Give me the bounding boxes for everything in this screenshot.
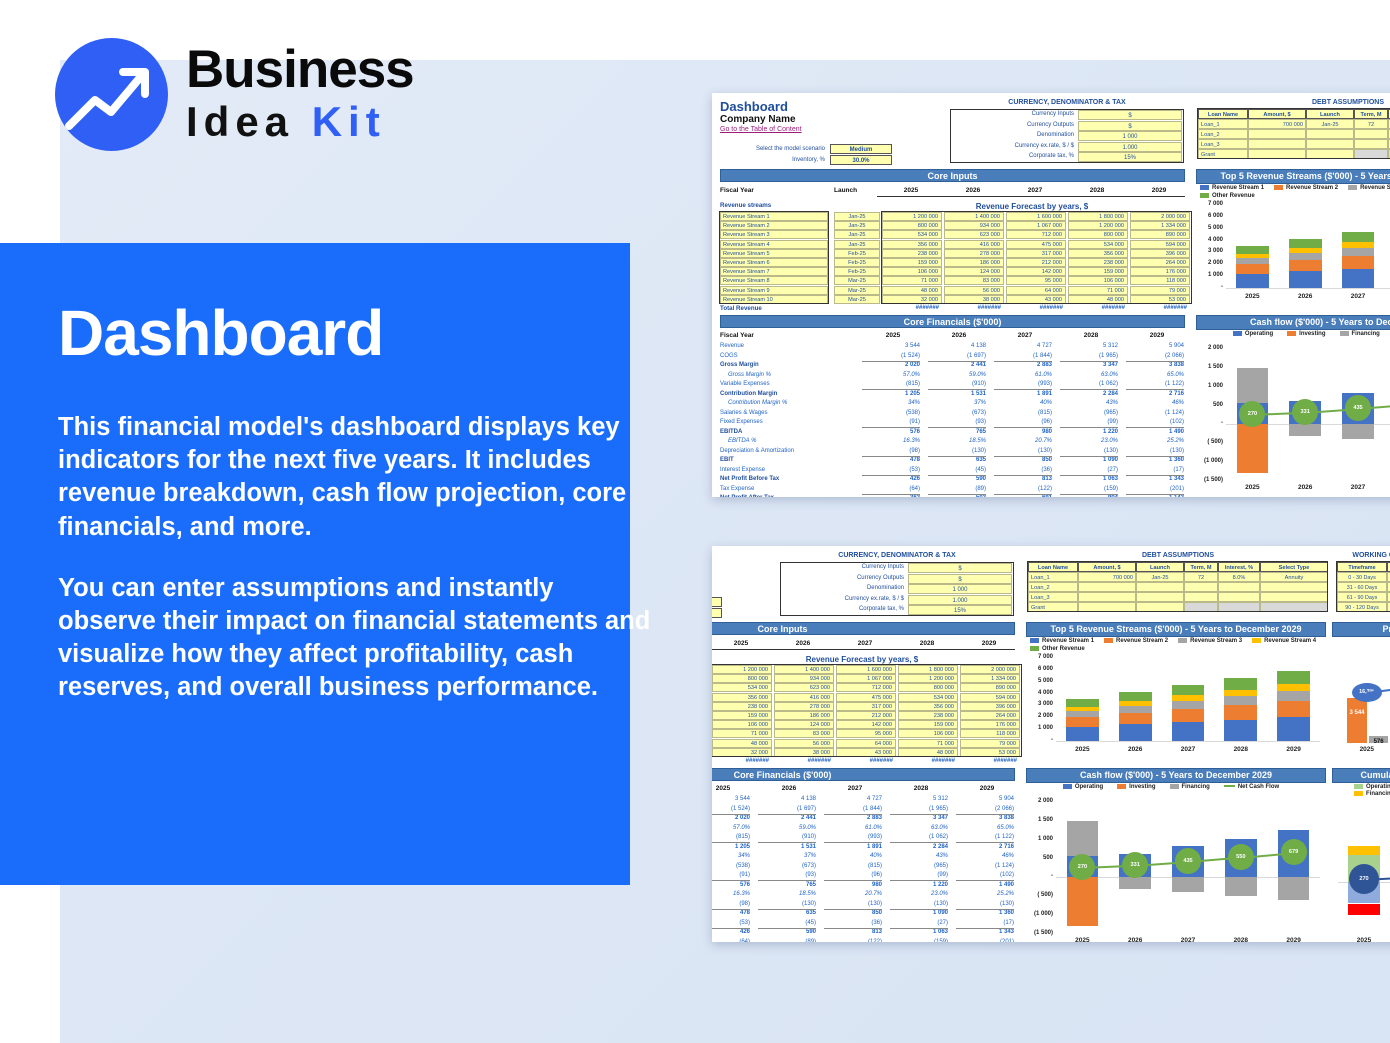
cf-row-value: 63.0% <box>890 825 948 831</box>
cf-row-value: 1 531 <box>758 844 816 850</box>
core-inputs-year: 2026 <box>944 187 1002 194</box>
cf-row-value: 1 220 <box>1060 429 1118 435</box>
legend-label: Operating <box>1245 331 1273 337</box>
cf-row-value: 1 891 <box>824 844 882 850</box>
cf-row-value: (1 697) <box>758 806 816 812</box>
scenario-select[interactable]: Medium <box>830 144 892 154</box>
total-revenue-value: ####### <box>1068 305 1128 311</box>
dashboard-screenshot-bottom: DashboardCompany NameGo to the Table of … <box>712 546 1390 942</box>
revenue-stream-launch[interactable]: Jan-25 <box>834 230 880 239</box>
cf-rule <box>862 494 920 495</box>
cf-row-value: 850 <box>824 910 882 916</box>
chart-title: Cumulative CashFlow ($'000) - 5 Years to… <box>1332 768 1390 783</box>
legend-item: Investing <box>1287 331 1325 337</box>
cf-row-label: EBITDA <box>720 429 860 435</box>
bar-segment <box>1342 424 1374 439</box>
spreadsheet-canvas-top: DashboardCompany NameGo to the Table of … <box>712 93 1390 497</box>
cf-row-value: 635 <box>928 457 986 463</box>
cf-row-value: 43% <box>890 853 948 859</box>
cf-row-value: (64) <box>862 486 920 492</box>
cashflow-data-bubble: 435 <box>1175 848 1201 874</box>
revenue-forecast-title: Revenue Forecast by years, $ <box>872 202 1192 211</box>
y-axis-tick: (1 500) <box>1026 930 1053 936</box>
legend-label: Other Revenue <box>1042 646 1085 652</box>
cf-row-value: (130) <box>928 448 986 454</box>
revenue-stream-launch[interactable]: Jan-25 <box>834 221 880 230</box>
chart-title: Cash flow ($'000) - 5 Years to December … <box>1196 315 1390 330</box>
x-axis-category: 2025 <box>1344 937 1384 942</box>
cf-rule <box>862 389 920 390</box>
cashflow-data-bubble: 435 <box>1345 395 1371 421</box>
chart-cumulative-cashflow: Cumulative CashFlow ($'000) - 5 Years to… <box>1332 768 1390 942</box>
cf-row-value: 34% <box>712 853 750 859</box>
bar-segment <box>1172 685 1205 695</box>
legend-item: Operating <box>1063 784 1103 790</box>
bar-segment <box>1289 424 1321 435</box>
cf-row-value: 576 <box>712 882 750 888</box>
bar-segment <box>1342 242 1375 248</box>
y-axis-tick: 2 000 <box>1026 713 1053 719</box>
x-axis-category: 2028 <box>1221 746 1261 753</box>
revenue-values-border <box>712 664 1022 757</box>
y-axis-tick: 1 000 <box>1196 383 1223 389</box>
cf-row-value: (130) <box>994 448 1052 454</box>
cf-row-value: 635 <box>758 910 816 916</box>
cf-row-value: 765 <box>758 882 816 888</box>
cf-row-value: 1 531 <box>928 391 986 397</box>
legend-label: Financing <box>1182 784 1210 790</box>
y-axis-tick: 1 000 <box>1196 272 1223 278</box>
cf-rule <box>994 494 1052 495</box>
x-axis-category: 2027 <box>1168 746 1208 753</box>
cf-rule <box>1126 494 1184 495</box>
revenue-forecast-title: Revenue Forecast by years, $ <box>712 655 1022 664</box>
cf-row-value: (17) <box>956 920 1014 926</box>
cf-row-value: (538) <box>862 410 920 416</box>
y-axis-tick: 500 <box>1026 855 1053 861</box>
hero-text-panel: Dashboard This financial model's dashboa… <box>58 300 658 704</box>
bar-segment <box>1277 701 1310 717</box>
legend-swatch <box>1200 185 1209 190</box>
total-revenue-value: ####### <box>774 758 834 764</box>
currency-block-border <box>780 562 1014 616</box>
y-axis-tick: 4 000 <box>1026 690 1053 696</box>
bar-segment <box>1289 253 1322 260</box>
cf-rule <box>712 842 750 843</box>
cf-row-value: 25.2% <box>1126 438 1184 444</box>
y-axis-tick: 2 000 <box>1196 260 1223 266</box>
cf-row-value: 2 716 <box>1126 391 1184 397</box>
y-axis-tick: 500 <box>1196 402 1223 408</box>
cf-row-value: 4 138 <box>758 796 816 802</box>
spreadsheet-canvas-bottom: DashboardCompany NameGo to the Table of … <box>712 546 1390 942</box>
cf-row-value: 16.3% <box>862 438 920 444</box>
cf-row-value: (1 524) <box>712 806 750 812</box>
legend-item: Investing <box>1117 784 1155 790</box>
bar-segment <box>1119 724 1152 741</box>
legend-item: Financing <box>1340 331 1380 337</box>
legend-item: Revenue Stream 1 <box>1200 185 1264 191</box>
cf-year-header: 2028 <box>890 785 952 792</box>
bar-segment <box>1224 705 1257 719</box>
cf-rule <box>994 427 1052 428</box>
y-axis-tick: - <box>1196 284 1223 290</box>
cf-row-value: 576 <box>862 429 920 435</box>
core-inputs-year: 2029 <box>1130 187 1188 194</box>
cf-row-value: (45) <box>928 467 986 473</box>
cf-row-value: (130) <box>956 901 1014 907</box>
cf-row-value: (1 965) <box>1060 353 1118 359</box>
revenue-bar <box>1347 698 1367 743</box>
legend-swatch <box>1233 331 1242 336</box>
cf-row-value: 61.0% <box>994 372 1052 378</box>
chart-legend: OperatingInvestingFinancingNet Cash Flow <box>1196 329 1390 337</box>
bar-segment <box>1342 269 1375 288</box>
legend-swatch <box>1178 638 1187 643</box>
cf-rule <box>1126 389 1184 390</box>
y-axis-tick: ( 500) <box>1196 439 1223 445</box>
x-axis-line <box>1226 288 1390 289</box>
bar-segment <box>1066 699 1099 707</box>
x-axis-category: 2025 <box>1062 746 1102 753</box>
core-inputs-year: 2028 <box>1068 187 1126 194</box>
cf-rule <box>994 475 1052 476</box>
legend-swatch <box>1354 791 1363 796</box>
chart-legend: Revenue Stream 1Revenue Stream 2Revenue … <box>1196 183 1390 199</box>
cf-row-value: 37% <box>928 400 986 406</box>
y-axis-tick: 7 000 <box>1196 201 1223 207</box>
y-axis-tick: 2 000 <box>1196 345 1223 351</box>
revenue-stream-launch[interactable]: Mar-25 <box>834 276 880 285</box>
cf-row-value: 1 205 <box>862 391 920 397</box>
cf-row-value: (93) <box>758 872 816 878</box>
cf-row-value: 590 <box>928 476 986 482</box>
cf-row-value: 1 205 <box>712 844 750 850</box>
cf-rule <box>928 456 986 457</box>
cf-row-value: 5 312 <box>890 796 948 802</box>
cf-row-value: 25.2% <box>956 891 1014 897</box>
cf-rule <box>712 814 750 815</box>
sheet-title: Dashboard <box>720 99 788 114</box>
revenue-stream-launch[interactable]: Jan-25 <box>834 212 880 221</box>
total-revenue-value: ####### <box>1006 305 1066 311</box>
cf-row-value: 2 020 <box>862 362 920 368</box>
launch-col-label: Launch <box>834 187 857 194</box>
bar-segment <box>1289 271 1322 288</box>
legend-swatch <box>1030 646 1039 651</box>
legend-label: Revenue Stream 2 <box>1286 185 1338 191</box>
legend-item: Revenue Stream 2 <box>1104 638 1168 644</box>
cf-row-value: (53) <box>862 467 920 473</box>
cf-row-value: 2 441 <box>928 362 986 368</box>
cf-rule <box>1060 389 1118 390</box>
cf-row-value: 23.0% <box>890 891 948 897</box>
scenario-label: Select the model scenario <box>720 146 825 152</box>
cf-row-value: (36) <box>824 920 882 926</box>
x-axis-category: 2025 <box>1062 937 1102 942</box>
cf-year-header: 2026 <box>758 785 820 792</box>
revenue-stream-launch[interactable]: Jan-25 <box>834 240 880 249</box>
revenue-data-label: 3 544 <box>1347 710 1367 716</box>
cf-row-value: (102) <box>956 872 1014 878</box>
cf-rule <box>994 389 1052 390</box>
cf-rule <box>824 814 882 815</box>
core-inputs-title: Core Inputs <box>712 622 1015 635</box>
cf-rule <box>758 842 816 843</box>
cf-row-value: (910) <box>928 381 986 387</box>
cf-row-value: 3 544 <box>712 796 750 802</box>
y-axis-tick: (1 000) <box>1196 458 1223 464</box>
cf-row-value: 4 727 <box>994 343 1052 349</box>
cf-row-value: 1 220 <box>890 882 948 888</box>
cf-row-value: 16.3% <box>712 891 750 897</box>
x-axis-line <box>1056 741 1320 742</box>
cf-row-value: (130) <box>890 901 948 907</box>
cf-year-header: 2029 <box>1126 332 1188 339</box>
bar-segment <box>1348 846 1379 854</box>
cf-year-header: 2025 <box>712 785 754 792</box>
y-axis-tick: 7 000 <box>1026 654 1053 660</box>
bar-segment <box>1172 709 1205 722</box>
cf-row-value: (910) <box>758 834 816 840</box>
x-axis-category: 2026 <box>1285 484 1325 491</box>
cf-row-value: (93) <box>928 419 986 425</box>
y-axis-tick: 1 000 <box>1026 725 1053 731</box>
cf-rule <box>890 928 948 929</box>
cf-row-value: 1 090 <box>1060 457 1118 463</box>
cf-row-value: 1 063 <box>1060 476 1118 482</box>
cf-row-value: (130) <box>1126 448 1184 454</box>
legend-swatch <box>1274 185 1283 190</box>
cf-row-value: 4 138 <box>928 343 986 349</box>
cf-row-value: (122) <box>824 939 882 943</box>
bar-segment <box>1236 246 1269 254</box>
revenue-stream-launch[interactable]: Feb-25 <box>834 267 880 276</box>
cf-row-label: Revenue <box>720 343 860 349</box>
cf-row-value: 1 142 <box>1126 495 1184 497</box>
cf-fiscal-year-label: Fiscal Year <box>720 332 754 339</box>
wc-block-title: WORKING CAPITAL ASSUMPTIONS <box>1337 552 1390 559</box>
bar-segment <box>1224 696 1257 705</box>
cf-row-value: (965) <box>890 863 948 869</box>
bar-segment <box>1066 717 1099 726</box>
core-inputs-year: 2026 <box>774 640 832 647</box>
dashboard-screenshot-top: DashboardCompany NameGo to the Table of … <box>712 93 1390 497</box>
bar-segment <box>1237 424 1269 473</box>
cf-row-value: 5 312 <box>1060 343 1118 349</box>
core-inputs-year: 2025 <box>882 187 940 194</box>
bar-segment <box>1277 684 1310 691</box>
bar-segment <box>1236 264 1269 273</box>
cf-row-value: 57.0% <box>862 372 920 378</box>
bar-segment <box>1277 691 1310 702</box>
bar-segment <box>1236 254 1269 258</box>
cf-row-value: (130) <box>758 901 816 907</box>
cf-row-value: (102) <box>1126 419 1184 425</box>
cf-row-label: Net Profit After Tax <box>720 495 860 497</box>
y-axis-tick: 6 000 <box>1026 666 1053 672</box>
bar-segment <box>1172 722 1205 741</box>
cf-row-value: 691 <box>994 495 1052 497</box>
y-axis-tick: 1 500 <box>1196 364 1223 370</box>
cf-row-value: (538) <box>712 863 750 869</box>
core-inputs-year: 2029 <box>960 640 1018 647</box>
cf-row-value: 23.0% <box>1060 438 1118 444</box>
bar-segment <box>1348 904 1379 915</box>
cf-row-value: (122) <box>994 486 1052 492</box>
bar-segment <box>1119 706 1152 713</box>
cf-row-value: (993) <box>824 834 882 840</box>
revenue-stream-launch[interactable]: Mar-25 <box>834 286 880 295</box>
cf-row-value: (96) <box>824 872 882 878</box>
bar-segment <box>1067 877 1099 926</box>
cf-row-value: 20.7% <box>994 438 1052 444</box>
cf-row-value: 1 063 <box>890 929 948 935</box>
cf-rule <box>890 842 948 843</box>
revenue-stream-launch[interactable]: Mar-25 <box>834 295 880 304</box>
brand-name-idea: Idea <box>186 98 294 145</box>
cf-rule <box>862 456 920 457</box>
cf-row-value: 850 <box>994 457 1052 463</box>
cf-row-value: 765 <box>928 429 986 435</box>
chart-legend: RevenueEBITDAEBITDA % <box>1332 636 1390 644</box>
total-revenue-value: ####### <box>836 758 896 764</box>
revenue-streams-label: Revenue streams <box>720 202 771 209</box>
cf-year-header: 2027 <box>994 332 1056 339</box>
chart-legend: Operating Cash ReceiptsOperating Cash Pa… <box>1332 782 1390 797</box>
scenario-select[interactable]: Medium <box>712 597 722 607</box>
cashflow-data-bubble: 550 <box>1228 844 1254 870</box>
cf-row-label: Gross Margin <box>720 362 860 368</box>
cf-row-value: (1 697) <box>928 353 986 359</box>
legend-item: Operating <box>1233 331 1273 337</box>
cf-row-value: 3 544 <box>862 343 920 349</box>
cf-row-value: (673) <box>928 410 986 416</box>
cf-rule <box>890 814 948 815</box>
core-inputs-title: Core Inputs <box>720 169 1185 182</box>
cf-row-value: (96) <box>994 419 1052 425</box>
inventory-input[interactable]: 30.0% <box>830 155 892 165</box>
legend-label: Operating <box>1075 784 1103 790</box>
cf-row-value: 2 284 <box>890 844 948 850</box>
cf-rule <box>824 880 882 881</box>
legend-item: Financing <box>1354 791 1390 797</box>
x-axis-category: 2025 <box>1347 746 1387 753</box>
cf-row-value: (91) <box>712 872 750 878</box>
cf-row-value: (159) <box>1060 486 1118 492</box>
cf-row-value: (89) <box>928 486 986 492</box>
cf-row-value: (1 124) <box>1126 410 1184 416</box>
legend-item: Financing <box>1170 784 1210 790</box>
cf-row-label: Salaries & Wages <box>720 410 860 416</box>
cf-row-value: 5 904 <box>956 796 1014 802</box>
cf-row-value: 813 <box>994 476 1052 482</box>
debt-block-title: DEBT ASSUMPTIONS <box>1198 99 1390 106</box>
wc-block-border <box>1336 561 1390 612</box>
y-axis-tick: - <box>1026 737 1053 743</box>
debt-block-title: DEBT ASSUMPTIONS <box>1028 552 1328 559</box>
x-axis-category: 2026 <box>1115 937 1155 942</box>
cf-row-value: (2 066) <box>1126 353 1184 359</box>
cf-rule <box>956 814 1014 815</box>
inventory-input[interactable]: 30.0% <box>712 608 722 618</box>
table-of-content-link[interactable]: Go to the Table of Content <box>720 126 802 133</box>
bar-segment <box>1119 713 1152 724</box>
cf-row-value: 3 347 <box>890 815 948 821</box>
cf-row-label: COGS <box>720 353 860 359</box>
cf-rule <box>1126 456 1184 457</box>
cf-row-value: 65.0% <box>1126 372 1184 378</box>
legend-label: Financing <box>1352 331 1380 337</box>
cf-row-value: (36) <box>994 467 1052 473</box>
cf-row-value: 980 <box>824 882 882 888</box>
y-axis-tick: 1 500 <box>1026 817 1053 823</box>
total-revenue-value: ####### <box>944 305 1004 311</box>
chart-title: Top 5 Revenue Streams ($'000) - 5 Years … <box>1026 622 1326 637</box>
y-axis-tick: (1 500) <box>1196 477 1223 483</box>
bar-segment <box>1342 232 1375 242</box>
cf-row-value: 34% <box>862 400 920 406</box>
cf-row-label: Tax Expense <box>720 486 860 492</box>
cf-row-value: (201) <box>956 939 1014 943</box>
cf-row-value: 59.0% <box>758 825 816 831</box>
chart-revenue-streams: Top 5 Revenue Streams ($'000) - 5 Years … <box>1196 169 1390 306</box>
total-revenue-value: ####### <box>898 758 958 764</box>
cf-rule <box>956 909 1014 910</box>
legend-label: Revenue Stream 3 <box>1190 638 1242 644</box>
cf-rule <box>1126 475 1184 476</box>
cf-row-value: 362 <box>862 495 920 497</box>
cf-rule <box>758 928 816 929</box>
y-axis-tick: 3 000 <box>1026 701 1053 707</box>
cf-row-value: 46% <box>956 853 1014 859</box>
bar-segment <box>1224 720 1257 741</box>
cf-row-value: 2 716 <box>956 844 1014 850</box>
cf-row-value: 426 <box>862 476 920 482</box>
cf-rule <box>862 427 920 428</box>
cf-row-value: (1 524) <box>862 353 920 359</box>
legend-swatch <box>1104 638 1113 643</box>
revenue-stream-launch[interactable]: Feb-25 <box>834 258 880 267</box>
legend-label: Investing <box>1129 784 1155 790</box>
bar-segment <box>1277 671 1310 684</box>
legend-swatch <box>1170 784 1179 789</box>
company-name: Company Name <box>720 114 796 125</box>
bar-segment <box>1066 711 1099 717</box>
growth-arrow-icon <box>55 38 168 151</box>
legend-label: Other Revenue <box>1212 193 1255 199</box>
cf-row-value: 63.0% <box>1060 372 1118 378</box>
cf-row-value: 40% <box>994 400 1052 406</box>
legend-label: Operating Cash Receipts <box>1366 784 1390 790</box>
legend-item: Revenue Stream 4 <box>1252 638 1316 644</box>
cf-row-value: (91) <box>862 419 920 425</box>
cf-rule <box>758 814 816 815</box>
cf-row-value: (64) <box>712 939 750 943</box>
bar-segment <box>1237 368 1269 404</box>
inventory-label: Inventory, % <box>720 157 825 163</box>
chart-legend: Revenue Stream 1Revenue Stream 2Revenue … <box>1026 636 1326 652</box>
bar-segment <box>1119 701 1152 706</box>
cf-rule <box>928 389 986 390</box>
cf-row-value: 3 347 <box>1060 362 1118 368</box>
revenue-stream-launch[interactable]: Feb-25 <box>834 249 880 258</box>
cf-rule <box>956 928 1014 929</box>
legend-label: Net Cash Flow <box>1238 784 1279 790</box>
core-financials-title: Core Financials ($'000) <box>720 315 1185 328</box>
bar-segment <box>1236 258 1269 264</box>
cf-year-header: 2026 <box>928 332 990 339</box>
